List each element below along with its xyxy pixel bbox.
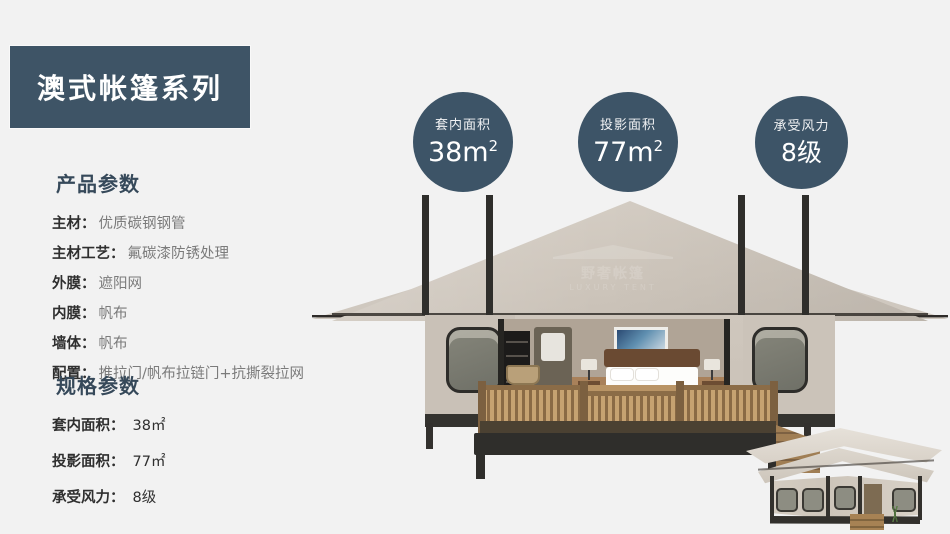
tent-support-leg [426,423,433,449]
small-tent-post [918,476,922,520]
stat-label: 投影面积 [600,119,656,132]
spec-params-list: 套内面积：38㎡ 投影面积：77㎡ 承受风力：8级 [52,413,165,511]
stat-badge-interior-area: 套内面积 38m2 [413,92,513,192]
param-label: 主材工艺： [52,246,125,262]
stat-unit-exponent: 2 [654,137,663,155]
secondary-tent-image [742,418,950,534]
tent-frame-post [422,195,429,315]
spec-value: 8级 [133,490,157,506]
tent-mesh-window-right [752,327,808,393]
small-tent-window [802,488,824,512]
spec-row: 套内面积：38㎡ [52,413,165,439]
stat-label: 套内面积 [435,119,491,132]
interior-table-lamp-right [704,359,720,380]
stat-label: 承受风力 [773,120,829,133]
spec-value: 77㎡ [133,454,166,470]
bed-headboard [604,349,700,367]
stat-value: 38m2 [428,139,498,166]
spec-label: 套内面积： [52,418,125,434]
tent-deck [480,385,776,451]
small-tent-door [864,484,882,518]
small-tent-post [826,476,830,520]
spec-params-section: 规格参数 套内面积：38㎡ 投影面积：77㎡ 承受风力：8级 [52,370,165,521]
param-row: 外膜：遮阳网 [52,271,304,297]
tent-frame-post [802,195,809,315]
small-tent-window [776,488,798,512]
stat-badge-wind-resistance: 承受风力 8级 [755,96,848,189]
param-label: 内膜： [52,306,96,322]
param-row: 主材：优质碳钢钢管 [52,211,304,237]
small-tent-window [834,486,856,510]
deck-foot [476,455,485,479]
deck-railing-center-top-rail [584,385,680,391]
spec-params-heading: 规格参数 [56,370,165,399]
tent-frame-post [486,195,493,315]
slide-canvas: 澳式帐篷系列 产品参数 主材：优质碳钢钢管 主材工艺：氟碳漆防锈处理 外膜：遮阳… [0,0,950,534]
small-tent-plant [888,506,902,522]
stat-value: 8级 [781,140,822,165]
deck-basket [506,365,540,385]
title-banner: 澳式帐篷系列 [10,46,250,128]
spec-label: 承受风力： [52,490,125,506]
stat-unit-exponent: 2 [489,137,498,155]
tent-frame-post [738,195,745,315]
param-label: 外膜： [52,276,96,292]
spec-row: 承受风力：8级 [52,485,165,511]
stat-badge-projected-area: 投影面积 77m2 [578,92,678,192]
param-value: 帆布 [99,336,128,352]
small-tent-post [770,476,774,520]
param-value: 帆布 [99,306,128,322]
spec-label: 投影面积： [52,454,125,470]
stat-value: 77m2 [593,139,663,166]
param-label: 墙体： [52,336,96,352]
product-params-list: 主材：优质碳钢钢管 主材工艺：氟碳漆防锈处理 外膜：遮阳网 内膜：帆布 墙体：帆… [52,211,304,387]
small-tent-steps [850,514,884,530]
deck-skirt [474,433,782,455]
param-row: 墙体：帆布 [52,331,304,357]
tent-mesh-window-left [446,327,502,393]
spec-value: 38㎡ [133,418,166,434]
param-value: 优质碳钢钢管 [99,216,186,232]
param-label: 主材： [52,216,96,232]
bed-pillow [636,369,658,380]
product-params-heading: 产品参数 [56,168,304,197]
interior-table-lamp-left [581,359,597,380]
bed-pillow [611,369,633,380]
param-row: 内膜：帆布 [52,301,304,327]
spec-row: 投影面积：77㎡ [52,449,165,475]
param-value: 氟碳漆防锈处理 [128,246,230,262]
product-params-section: 产品参数 主材：优质碳钢钢管 主材工艺：氟碳漆防锈处理 外膜：遮阳网 内膜：帆布… [52,168,304,391]
param-row: 主材工艺：氟碳漆防锈处理 [52,241,304,267]
param-value: 遮阳网 [99,276,143,292]
page-title: 澳式帐篷系列 [37,67,223,107]
